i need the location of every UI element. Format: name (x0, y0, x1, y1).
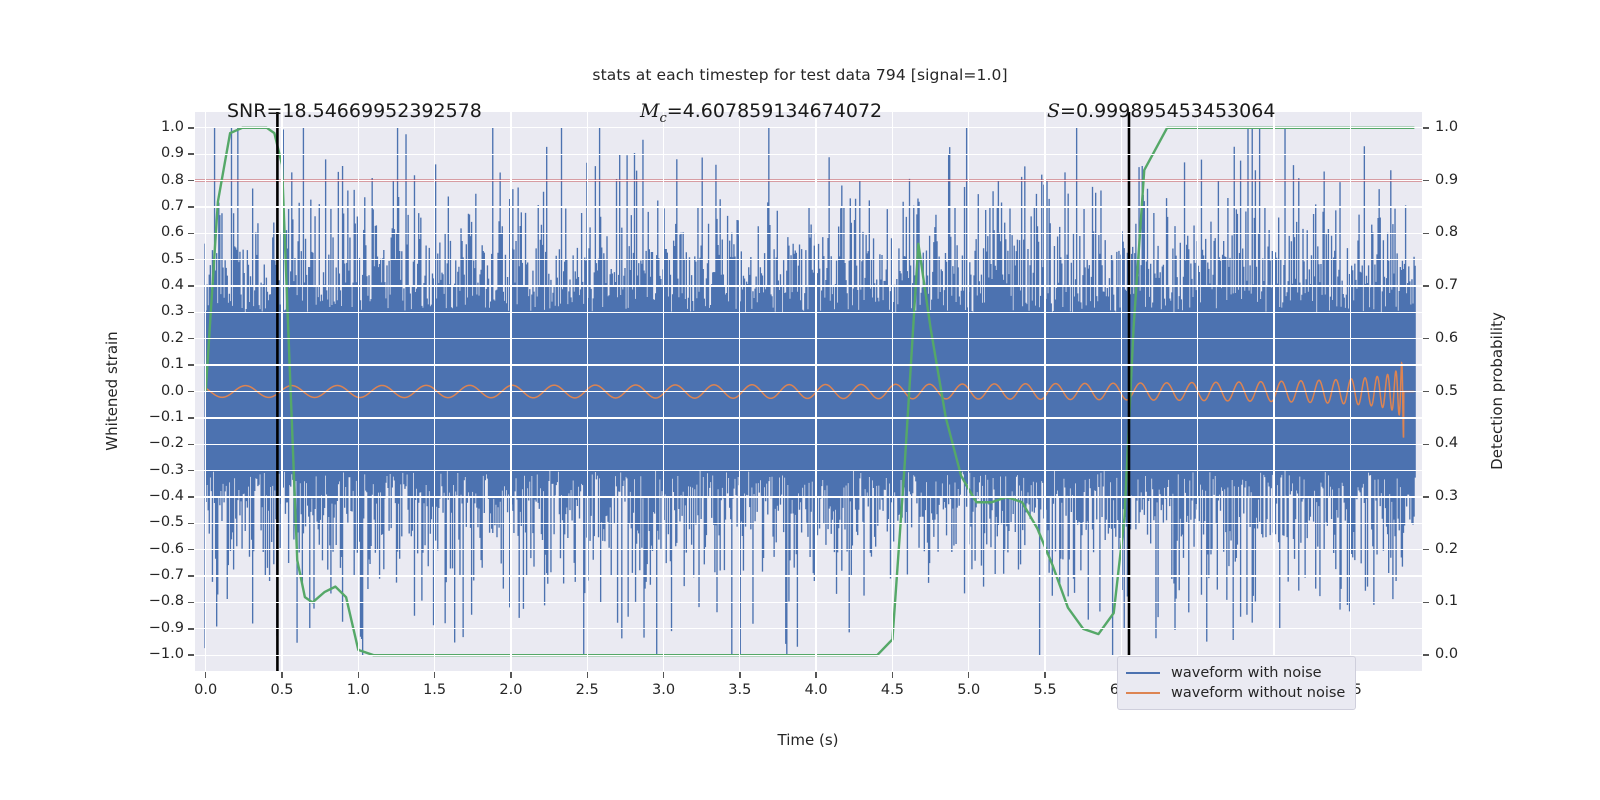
legend-label-waveform-without-noise: waveform without noise (1171, 685, 1345, 701)
y-tick-label-left: −0.6 (149, 541, 184, 557)
gridline-horizontal (195, 523, 1422, 524)
gridline-vertical (1121, 112, 1122, 671)
gridline-vertical (968, 112, 969, 671)
gridline-horizontal (195, 338, 1422, 339)
y-tick-label-left: −0.3 (149, 462, 184, 478)
annotation-mc-equals: = (667, 100, 683, 122)
y-tick-label-left: 0.3 (161, 303, 184, 319)
y-tick-label-right: 0.2 (1435, 541, 1458, 557)
legend-label-waveform-with-noise: waveform with noise (1171, 665, 1322, 681)
y-tick-mark-left (188, 470, 194, 471)
gridline-horizontal (195, 391, 1422, 392)
y-tick-mark-left (188, 417, 194, 418)
legend-item-waveform-without-noise[interactable]: waveform without noise (1126, 683, 1345, 703)
annotation-signal-score: S=0.999895453453064 (1047, 100, 1275, 122)
y-tick-mark-right (1423, 180, 1429, 181)
gridline-horizontal (195, 180, 1422, 181)
gridline-horizontal (195, 602, 1422, 603)
legend[interactable]: waveform with noise waveform without noi… (1117, 656, 1356, 710)
y-tick-label-left: 0.5 (161, 251, 184, 267)
gridline-horizontal (195, 364, 1422, 365)
gridline-horizontal (195, 470, 1422, 471)
y-tick-mark-right (1423, 391, 1429, 392)
y-tick-mark-left (188, 153, 194, 154)
x-tick-mark (892, 672, 893, 678)
annotation-mc-subscript: c (659, 111, 666, 126)
annotation-mc-symbol: M (640, 100, 659, 122)
y-tick-label-right: 0.6 (1435, 330, 1458, 346)
x-tick-label: 4.0 (786, 682, 846, 698)
x-tick-mark (663, 672, 664, 678)
figure-canvas: stats at each timestep for test data 794… (0, 0, 1600, 800)
x-tick-mark (587, 672, 588, 678)
y-tick-label-left: 0.1 (161, 356, 184, 372)
gridline-vertical (434, 112, 435, 671)
y-axis-label-left: Whitened strain (103, 331, 121, 450)
gridline-vertical (739, 112, 740, 671)
x-tick-mark (358, 672, 359, 678)
legend-item-waveform-with-noise[interactable]: waveform with noise (1126, 663, 1345, 683)
y-tick-label-left: 0.9 (161, 145, 184, 161)
gridline-horizontal (195, 496, 1422, 497)
x-tick-mark (434, 672, 435, 678)
y-tick-mark-right (1423, 233, 1429, 234)
y-tick-label-right: 0.4 (1435, 435, 1458, 451)
gridline-horizontal (195, 312, 1422, 313)
y-tick-mark-right (1423, 285, 1429, 286)
y-tick-mark-left (188, 549, 194, 550)
y-tick-mark-left (188, 338, 194, 339)
y-tick-mark-left (188, 523, 194, 524)
y-tick-mark-left (188, 575, 194, 576)
annotation-s-value: 0.999895453453064 (1076, 100, 1275, 122)
gridline-horizontal (195, 206, 1422, 207)
gridline-vertical (510, 112, 511, 671)
y-tick-mark-right (1423, 444, 1429, 445)
y-axis-label-right: Detection probability (1488, 312, 1506, 470)
gridline-horizontal (195, 154, 1422, 155)
y-tick-label-right: 0.7 (1435, 277, 1458, 293)
x-tick-label: 2.0 (481, 682, 541, 698)
y-tick-label-right: 0.0 (1435, 646, 1458, 662)
gridline-horizontal (195, 444, 1422, 445)
x-tick-label: 5.0 (939, 682, 999, 698)
y-tick-mark-left (188, 364, 194, 365)
gridline-horizontal (195, 259, 1422, 260)
x-tick-label: 5.5 (1015, 682, 1075, 698)
gridline-vertical (815, 112, 816, 671)
y-tick-mark-left (188, 444, 194, 445)
x-tick-label: 4.5 (862, 682, 922, 698)
y-tick-label-left: −0.9 (149, 620, 184, 636)
y-tick-label-left: 0.6 (161, 224, 184, 240)
gridline-vertical (587, 112, 588, 671)
y-tick-mark-right (1423, 654, 1429, 655)
y-tick-label-left: −0.1 (149, 409, 184, 425)
x-tick-label: 3.5 (710, 682, 770, 698)
gridline-vertical (1350, 112, 1351, 671)
y-tick-label-left: −0.4 (149, 488, 184, 504)
annotation-s-equals: = (1060, 100, 1076, 122)
gridline-vertical (205, 112, 206, 671)
y-tick-label-right: 0.1 (1435, 593, 1458, 609)
y-tick-label-right: 1.0 (1435, 119, 1458, 135)
x-tick-mark (1044, 672, 1045, 678)
y-tick-mark-left (188, 233, 194, 234)
y-tick-label-left: 0.4 (161, 277, 184, 293)
legend-color-swatch-orange (1126, 692, 1160, 695)
y-tick-mark-left (188, 259, 194, 260)
annotation-snr-value: 18.54669952392578 (282, 100, 481, 122)
annotation-chirp-mass: Mc=4.607859134674072 (640, 100, 882, 126)
gridline-vertical (1273, 112, 1274, 671)
gridline-horizontal (195, 233, 1422, 234)
x-tick-mark (510, 672, 511, 678)
x-tick-mark (281, 672, 282, 678)
gridline-vertical (892, 112, 893, 671)
gridline-vertical (358, 112, 359, 671)
y-tick-mark-left (188, 628, 194, 629)
y-tick-label-left: 0.2 (161, 330, 184, 346)
annotation-mc-value: 4.607859134674072 (683, 100, 882, 122)
x-tick-label: 3.0 (634, 682, 694, 698)
y-tick-mark-left (188, 180, 194, 181)
gridline-horizontal (195, 417, 1422, 418)
y-tick-mark-right (1423, 127, 1429, 128)
gridline-vertical (663, 112, 664, 671)
x-tick-label: 1.0 (328, 682, 388, 698)
y-tick-mark-left (188, 206, 194, 207)
y-tick-label-right: 0.9 (1435, 172, 1458, 188)
y-tick-mark-left (188, 312, 194, 313)
annotation-s-symbol: S (1047, 100, 1060, 122)
y-tick-label-right: 0.3 (1435, 488, 1458, 504)
annotation-snr: SNR=18.54669952392578 (227, 100, 482, 122)
page-title: stats at each timestep for test data 794… (0, 66, 1600, 84)
gridline-horizontal (195, 575, 1422, 576)
y-tick-label-left: −0.5 (149, 514, 184, 530)
y-tick-mark-left (188, 127, 194, 128)
y-tick-mark-left (188, 391, 194, 392)
y-tick-label-left: −0.8 (149, 593, 184, 609)
x-tick-label: 0.0 (176, 682, 236, 698)
y-tick-label-left: 0.8 (161, 172, 184, 188)
y-tick-label-left: 1.0 (161, 119, 184, 135)
x-tick-mark (205, 672, 206, 678)
x-tick-label: 0.5 (252, 682, 312, 698)
y-tick-label-left: −1.0 (149, 646, 184, 662)
y-tick-mark-left (188, 496, 194, 497)
gridline-vertical (1197, 112, 1198, 671)
y-tick-mark-right (1423, 338, 1429, 339)
y-tick-label-left: 0.7 (161, 198, 184, 214)
gridline-vertical (1044, 112, 1045, 671)
plot-axes[interactable] (195, 112, 1422, 671)
y-tick-mark-left (188, 654, 194, 655)
gridline-vertical (281, 112, 282, 671)
y-tick-label-left: −0.7 (149, 567, 184, 583)
y-tick-mark-left (188, 602, 194, 603)
y-tick-mark-left (188, 285, 194, 286)
gridline-horizontal (195, 285, 1422, 286)
x-tick-mark (968, 672, 969, 678)
x-tick-mark (739, 672, 740, 678)
annotation-snr-label: SNR= (227, 100, 282, 122)
y-tick-label-right: 0.8 (1435, 224, 1458, 240)
gridline-horizontal (195, 628, 1422, 629)
y-tick-label-left: −0.2 (149, 435, 184, 451)
y-tick-mark-right (1423, 549, 1429, 550)
legend-color-swatch-blue (1126, 672, 1160, 675)
y-tick-label-left: 0.0 (161, 383, 184, 399)
y-tick-mark-right (1423, 496, 1429, 497)
x-tick-mark (815, 672, 816, 678)
y-tick-mark-right (1423, 602, 1429, 603)
x-tick-label: 1.5 (405, 682, 465, 698)
x-axis-label: Time (s) (778, 731, 839, 749)
y-tick-label-right: 0.5 (1435, 383, 1458, 399)
gridline-horizontal (195, 549, 1422, 550)
x-tick-label: 2.5 (557, 682, 617, 698)
gridline-horizontal (195, 127, 1422, 128)
